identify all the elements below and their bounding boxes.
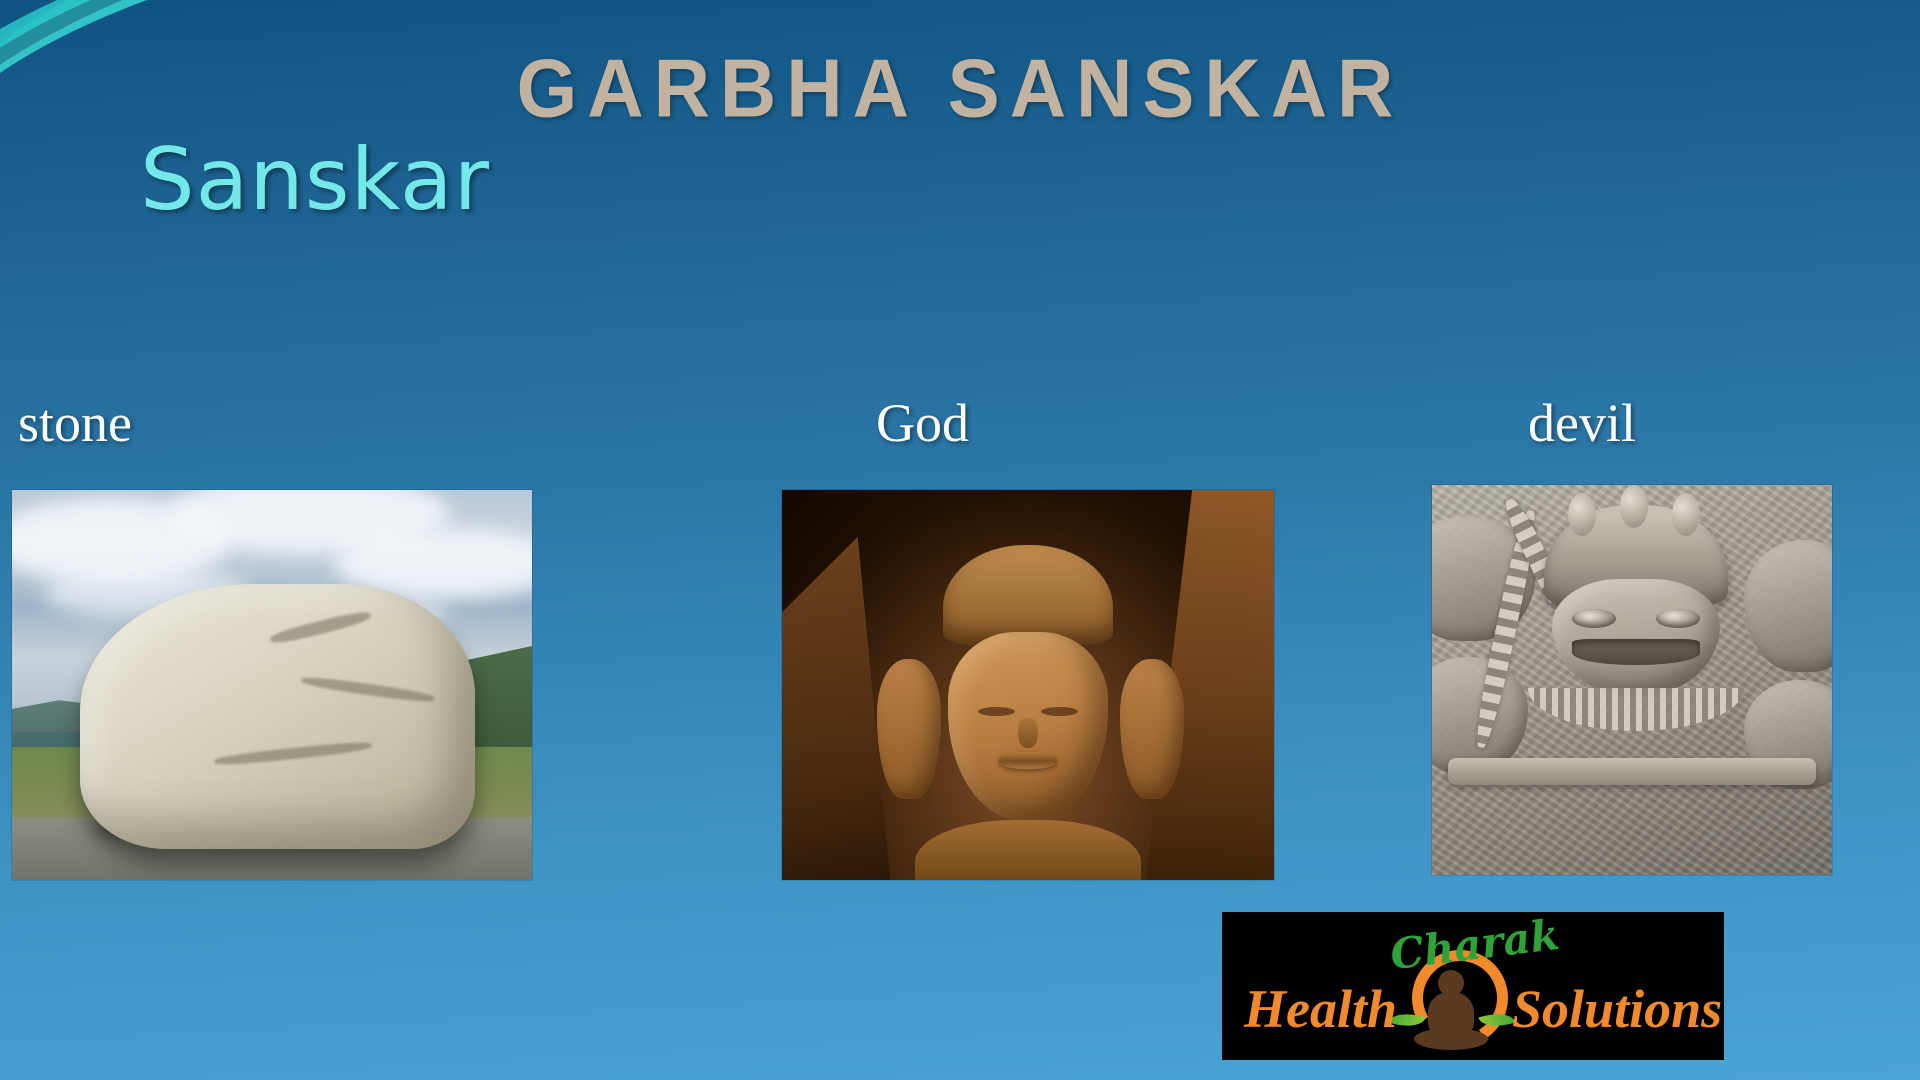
deity-shoulders [915, 820, 1142, 880]
column-label-god: God [876, 392, 969, 454]
side-head-right [1120, 659, 1184, 800]
column-label-stone: stone [18, 392, 132, 454]
deity-face [948, 632, 1109, 820]
image-stone [12, 490, 532, 880]
demon-eye-right [1656, 609, 1700, 628]
demon-mouth [1572, 639, 1700, 665]
column-label-devil: devil [1528, 392, 1636, 454]
crown-bead [1672, 493, 1700, 536]
logo-brand-health: Health [1244, 978, 1397, 1040]
logo-brand-solutions: Solutions [1512, 978, 1722, 1040]
page-subtitle: Sanskar [140, 130, 490, 230]
page-title: GARBHA SANSKAR [0, 40, 1920, 136]
boulder [80, 584, 475, 849]
demon-arm [1448, 758, 1816, 785]
meditating-figure-base-icon [1414, 1028, 1488, 1050]
boulder-crack [214, 740, 372, 767]
demon-eye-left [1572, 609, 1616, 628]
image-devil [1432, 485, 1832, 875]
deity-mouth [999, 752, 1057, 769]
side-head-left [877, 659, 941, 800]
presentation-slide: GARBHA SANSKAR Sanskar stone God devil [0, 0, 1920, 1080]
boulder-crack [269, 608, 372, 646]
deity-crown [943, 545, 1113, 646]
image-god [782, 490, 1274, 880]
crown-bead [1620, 485, 1648, 528]
logo-brand-charak: Charak [1388, 912, 1562, 979]
deity-eye-left [978, 707, 1015, 716]
deity-sculpture [910, 545, 1146, 880]
brand-logo[interactable]: Charak Health Solutions [1222, 912, 1724, 1060]
deity-eye-right [1041, 707, 1078, 716]
boulder-crack [301, 675, 436, 704]
deity-nose [1018, 718, 1037, 748]
crown-bead [1568, 493, 1596, 536]
